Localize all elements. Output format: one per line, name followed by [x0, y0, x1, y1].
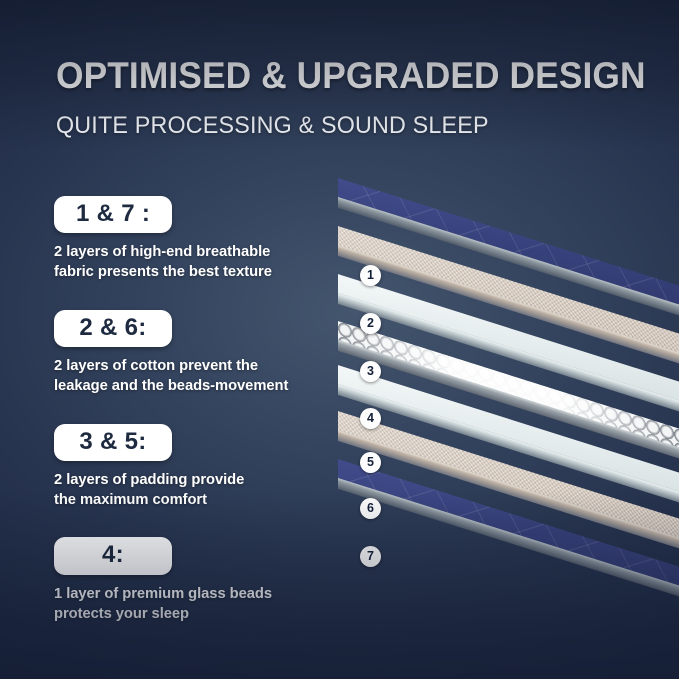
layer-label-text: 3 & 5:: [76, 428, 150, 456]
feature-description: 2 layers of cotton prevent the leakage a…: [54, 356, 345, 396]
layer-label-text: 4:: [76, 541, 150, 569]
description-line: the maximum comfort: [54, 490, 345, 510]
layer-number-badge-5: 5: [360, 452, 381, 473]
feature-block: 3 & 5: 2 layers of padding provide the m…: [54, 424, 354, 510]
feature-block: 4: 1 layer of premium glass beads protec…: [54, 537, 354, 623]
description-line: fabric presents the best texture: [54, 262, 345, 282]
description-line: 2 layers of padding provide: [54, 470, 345, 490]
layer-label-badge: 2 & 6:: [54, 310, 172, 347]
layer-number-badge-4: 4: [360, 408, 381, 429]
description-line: protects your sleep: [54, 604, 345, 624]
layer-label-badge: 4:: [54, 537, 172, 574]
layer-number-badge-1: 1: [360, 265, 381, 286]
layer-number-badge-7: 7: [360, 546, 381, 567]
feature-block: 1 & 7 : 2 layers of high-end breathable …: [54, 196, 354, 282]
infographic-canvas: OPTIMISED & UPGRADED DESIGN QUITE PROCES…: [0, 0, 679, 679]
page-title: OPTIMISED & UPGRADED DESIGN: [56, 56, 629, 96]
description-line: 1 layer of premium glass beads: [54, 584, 345, 604]
description-line: 2 layers of cotton prevent the: [54, 356, 345, 376]
layer-label-badge: 1 & 7 :: [54, 196, 172, 233]
layer-number-badge-2: 2: [360, 313, 381, 334]
feature-block: 2 & 6: 2 layers of cotton prevent the le…: [54, 310, 354, 396]
page-subtitle: QUITE PROCESSING & SOUND SLEEP: [56, 112, 638, 140]
feature-block-list: 1 & 7 : 2 layers of high-end breathable …: [54, 196, 354, 623]
layer-label-text: 1 & 7 :: [76, 200, 150, 228]
layer-number-badge-6: 6: [360, 498, 381, 519]
description-line: 2 layers of high-end breathable: [54, 242, 345, 262]
layer-label-text: 2 & 6:: [76, 314, 150, 342]
feature-description: 2 layers of high-end breathable fabric p…: [54, 242, 345, 282]
layer-label-badge: 3 & 5:: [54, 424, 172, 461]
layer-number-badge-3: 3: [360, 361, 381, 382]
feature-description: 1 layer of premium glass beads protects …: [54, 584, 345, 624]
heading-group: OPTIMISED & UPGRADED DESIGN QUITE PROCES…: [56, 56, 656, 140]
description-line: leakage and the beads-movement: [54, 376, 345, 396]
feature-description: 2 layers of padding provide the maximum …: [54, 470, 345, 510]
